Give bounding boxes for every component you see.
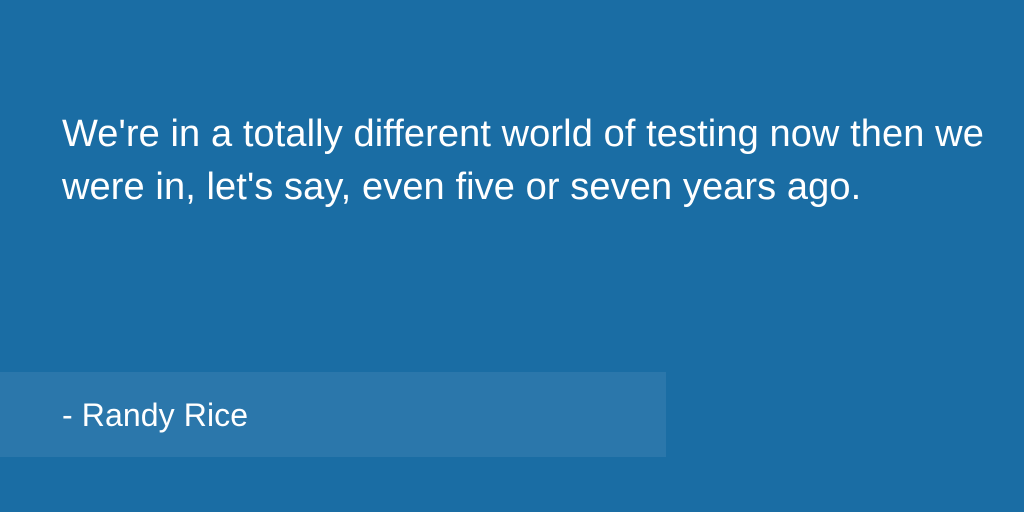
quote-card: We're in a totally different world of te… bbox=[0, 0, 1024, 512]
quote-body: We're in a totally different world of te… bbox=[62, 108, 997, 214]
attribution-label: - Randy Rice bbox=[0, 396, 248, 434]
attribution-bar: - Randy Rice bbox=[0, 372, 666, 457]
quote-text: We're in a totally different world of te… bbox=[62, 108, 997, 214]
